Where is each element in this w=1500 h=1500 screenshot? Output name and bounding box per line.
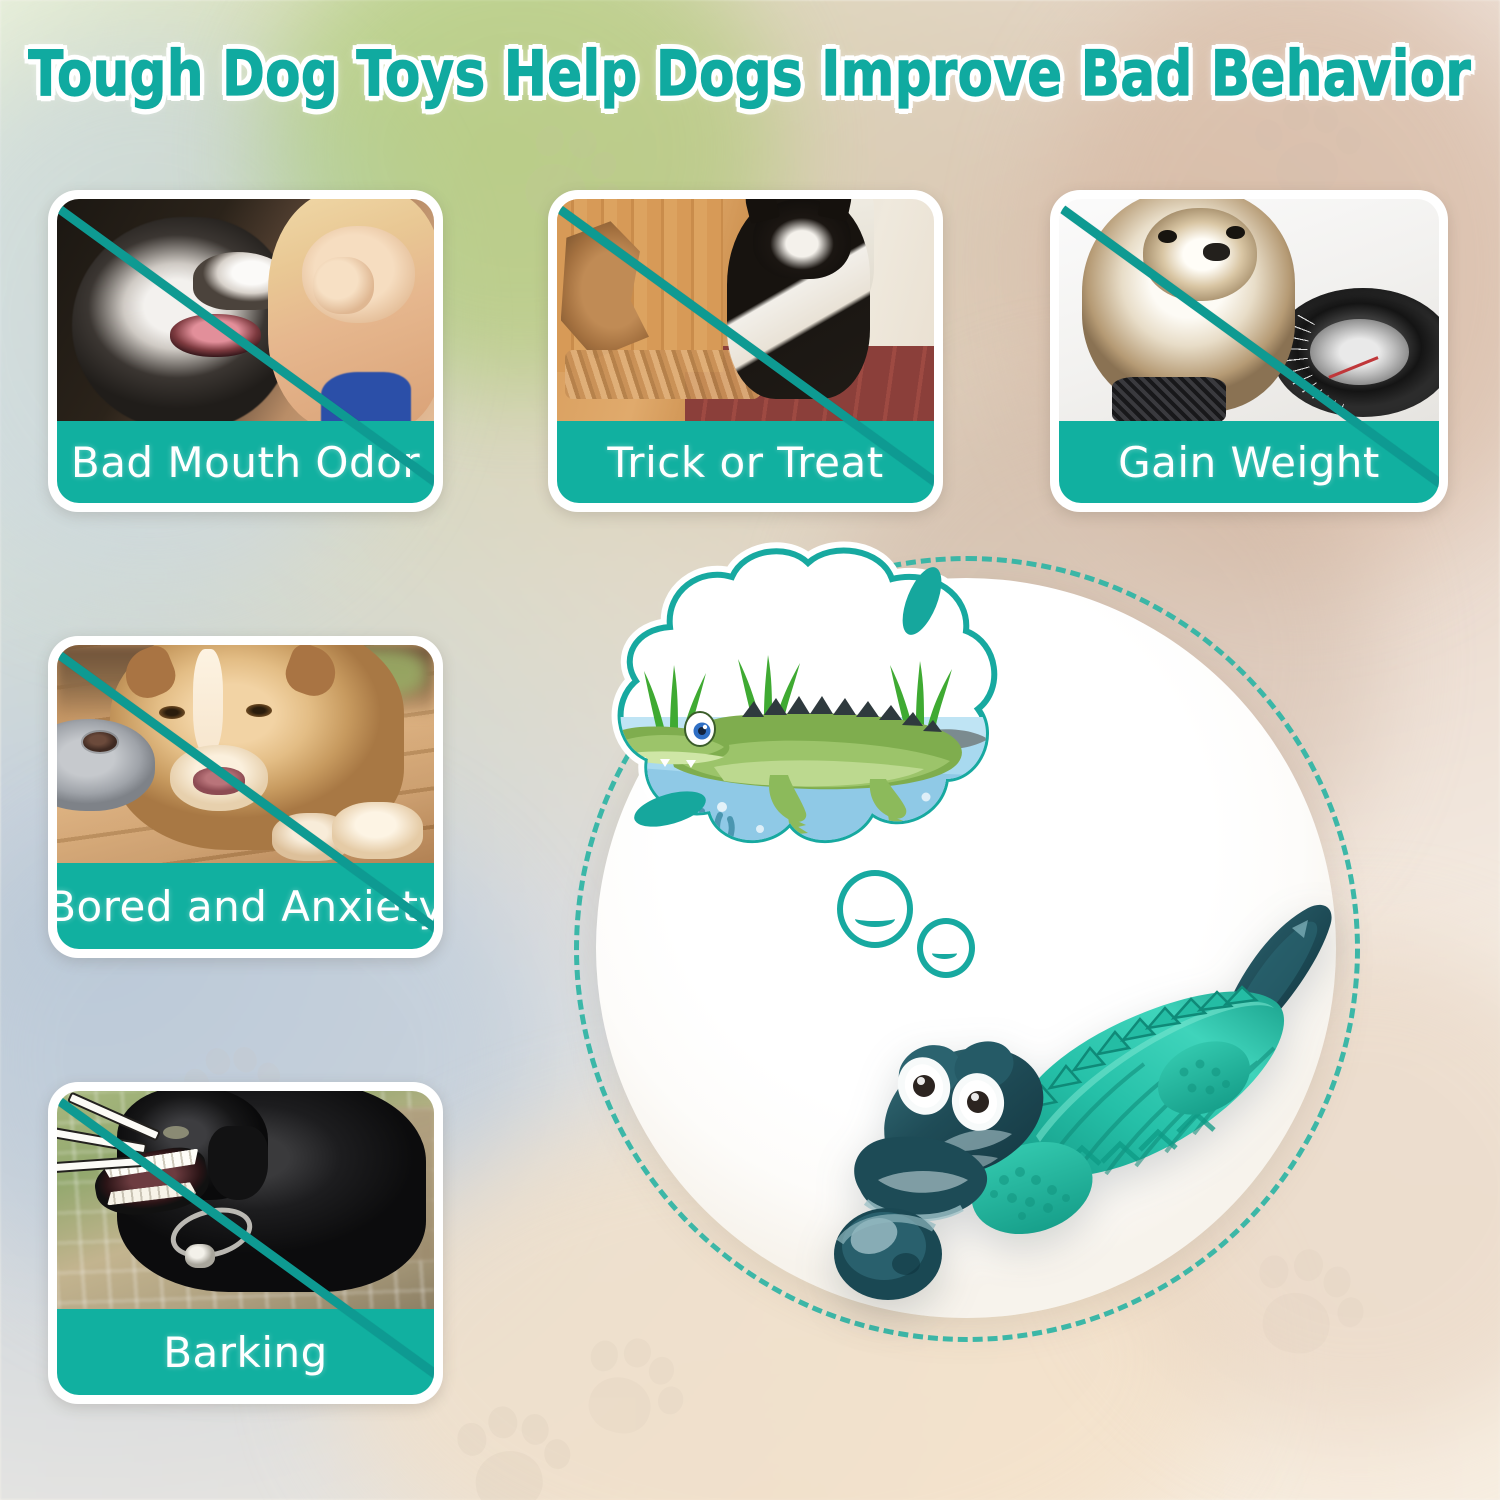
card-photo-gain-weight [1059,199,1439,421]
dog-paw [332,802,422,859]
woman-shirt [321,372,411,421]
dog-eye [1226,226,1245,239]
card-inner: Barking [57,1091,434,1395]
photo-scene [57,199,434,421]
dog-mouth [170,314,260,356]
dog-face-blaze [193,649,223,754]
card-label-text: Gain Weight [1118,438,1380,487]
scale-dial [1310,319,1409,386]
card-label-text: Bored and Anxiety [57,882,434,931]
dog-illustration [72,217,291,421]
card-inner: Bad Mouth Odor [57,199,434,503]
dog-eye [163,1126,189,1139]
title-bar: Tough Dog Toys Help Dogs Improve Bad Beh… [0,44,1500,105]
shih-tzu-face [1143,208,1257,301]
woman-hand-pinching-nose [313,257,373,315]
dog-ear [208,1126,268,1200]
card-inner: Trick or Treat [557,199,934,503]
dog-harness [1112,377,1226,421]
card-label-bar: Bored and Anxiety [57,863,434,949]
card-photo-bad-mouth-odor [57,199,434,421]
dog-eye [246,704,272,717]
problem-card-bored-and-anxiety[interactable]: Bored and Anxiety [48,636,443,958]
product-crocodile-chew-toy[interactable] [826,850,1386,1330]
toy-nose-knob [834,1208,942,1300]
problem-card-bad-mouth-odor[interactable]: Bad Mouth Odor [48,190,443,512]
page-title: Tough Dog Toys Help Dogs Improve Bad Beh… [29,39,1472,111]
plush-toy-button [83,732,117,752]
card-label-text: Barking [163,1328,328,1377]
photo-scene [57,1091,434,1309]
card-photo-trick-or-treat [557,199,934,421]
photo-scene [557,199,934,421]
card-label-text: Trick or Treat [607,438,883,487]
dog-nose [1203,243,1230,261]
problem-card-gain-weight[interactable]: Gain Weight [1050,190,1448,512]
photo-scene [57,645,434,863]
card-photo-bored-and-anxiety [57,645,434,863]
problem-card-trick-or-treat[interactable]: Trick or Treat [548,190,943,512]
card-photo-barking [57,1091,434,1309]
card-inner: Bored and Anxiety [57,645,434,949]
collar-tag [185,1244,215,1268]
card-label-bar: Bad Mouth Odor [57,421,434,503]
thought-bubble [574,539,1020,869]
card-label-bar: Barking [57,1309,434,1395]
dog-nose [193,767,246,795]
card-inner: Gain Weight [1059,199,1439,503]
problem-card-barking[interactable]: Barking [48,1082,443,1404]
card-label-bar: Trick or Treat [557,421,934,503]
hero-product-area [560,540,1380,1440]
photo-scene [1059,199,1439,421]
card-label-bar: Gain Weight [1059,421,1439,503]
card-label-text: Bad Mouth Odor [71,438,420,487]
